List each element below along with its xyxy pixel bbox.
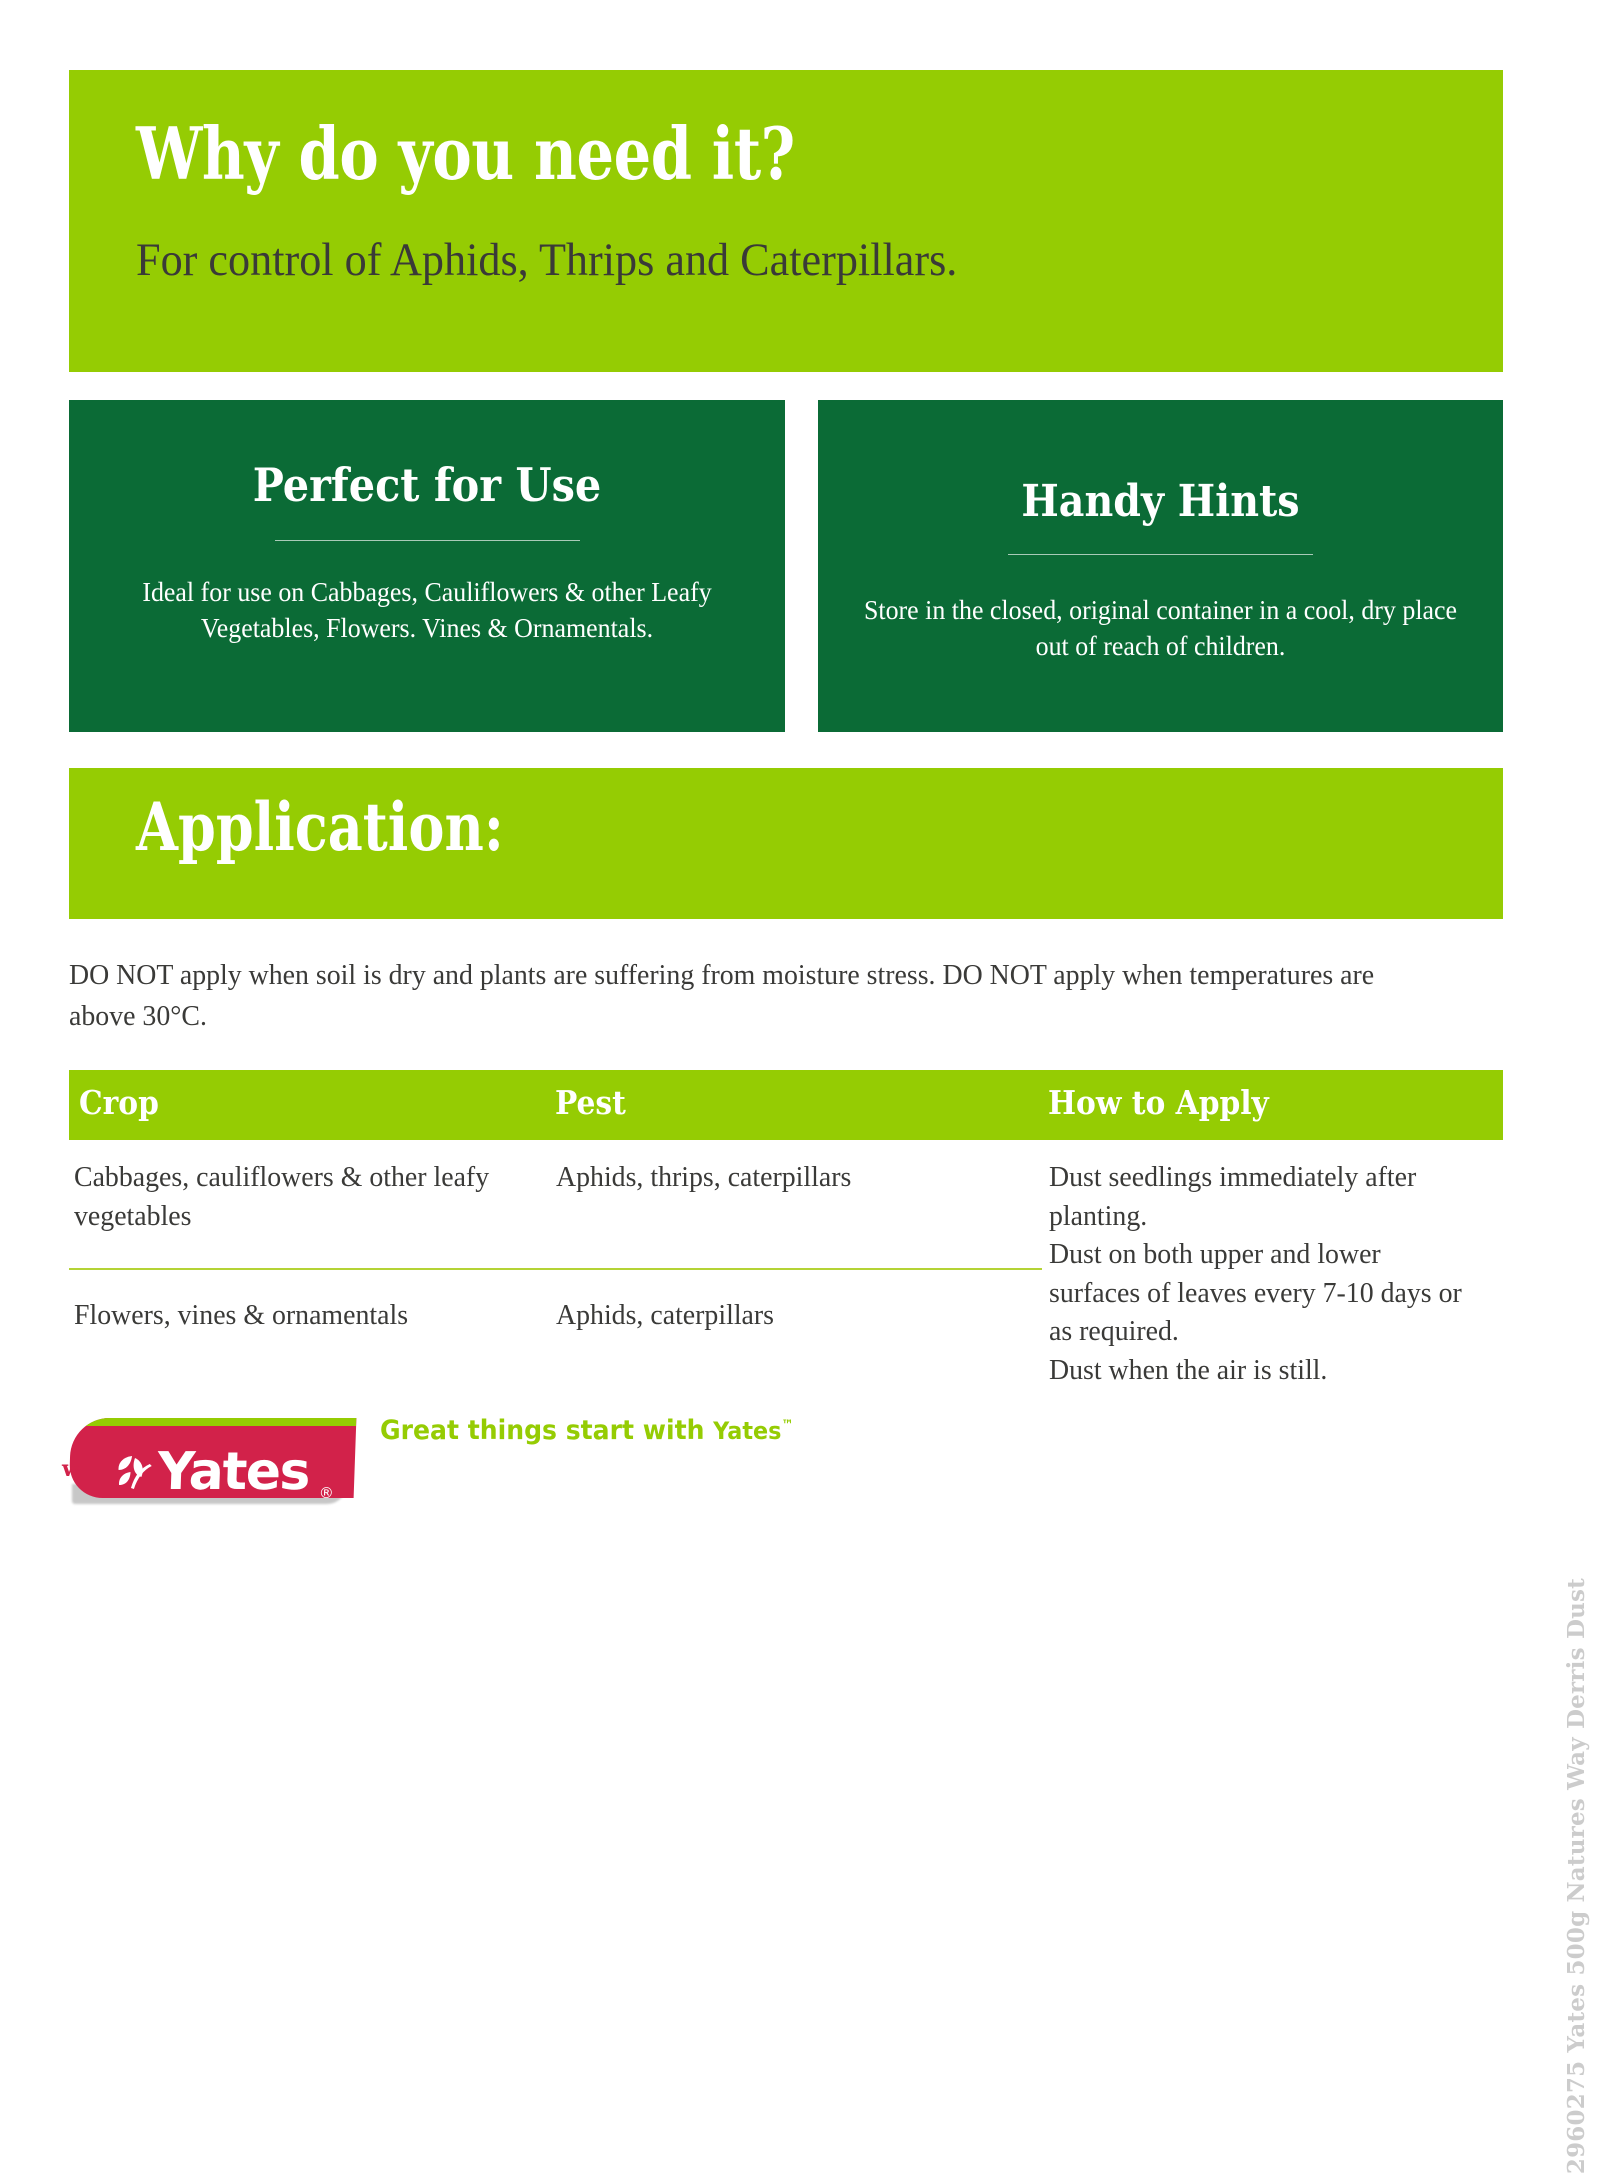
- logo-wordmark: Yates: [157, 1446, 310, 1498]
- table-header-row: Crop Pest How to Apply: [69, 1070, 1503, 1140]
- logo-banner-shape: Yates ®: [69, 1418, 357, 1498]
- trademark-icon: ™: [781, 1418, 793, 1433]
- perfect-for-use-card: Perfect for Use Ideal for use on Cabbage…: [69, 400, 785, 732]
- yates-logo: w Yates ®: [62, 1398, 362, 1516]
- application-warning-text: DO NOT apply when soil is dry and plants…: [69, 955, 1375, 1037]
- brand-tagline: Great things start with Yates™: [380, 1417, 794, 1444]
- table-row: Aphids, thrips, caterpillars: [556, 1158, 998, 1197]
- tagline-brand: Yates: [713, 1417, 781, 1445]
- card-divider: [275, 540, 580, 541]
- application-banner: Application:: [69, 768, 1503, 919]
- handy-hints-card: Handy Hints Store in the closed, origina…: [818, 400, 1503, 732]
- page-title: Why do you need it?: [136, 118, 795, 190]
- logo-green-stripe: [71, 1418, 356, 1426]
- table-row: Dust seedlings immediately after plantin…: [1049, 1158, 1471, 1389]
- hero-banner: Why do you need it? For control of Aphid…: [69, 70, 1503, 372]
- table-row-divider: [69, 1268, 1042, 1270]
- hero-subtitle: For control of Aphids, Thrips and Caterp…: [136, 235, 957, 287]
- card-title-handy-hints: Handy Hints: [852, 480, 1469, 524]
- leaf-sprig-icon: [109, 1448, 157, 1494]
- application-heading: Application:: [136, 794, 504, 860]
- product-side-code: 2960275 Yates 500g Natures Way Derris Du…: [1565, 1578, 1588, 2174]
- table-header-pest: Pest: [555, 1086, 626, 1119]
- table-row: Cabbages, cauliflowers & other leafy veg…: [74, 1158, 506, 1235]
- table-header-how-to-apply: How to Apply: [1048, 1086, 1269, 1119]
- table-row: Aphids, caterpillars: [556, 1296, 998, 1335]
- card-title-perfect-for-use: Perfect for Use: [105, 462, 749, 508]
- card-divider: [1008, 554, 1313, 555]
- table-header-crop: Crop: [79, 1086, 159, 1119]
- card-body-handy-hints: Store in the closed, original container …: [832, 593, 1490, 664]
- card-body-perfect-for-use: Ideal for use on Cabbages, Cauliflowers …: [83, 575, 770, 646]
- registered-trademark-icon: ®: [318, 1484, 334, 1498]
- table-row: Flowers, vines & ornamentals: [74, 1296, 506, 1335]
- logo-edge-letter: w: [62, 1456, 81, 1482]
- tagline-prefix: Great things start with: [380, 1415, 713, 1446]
